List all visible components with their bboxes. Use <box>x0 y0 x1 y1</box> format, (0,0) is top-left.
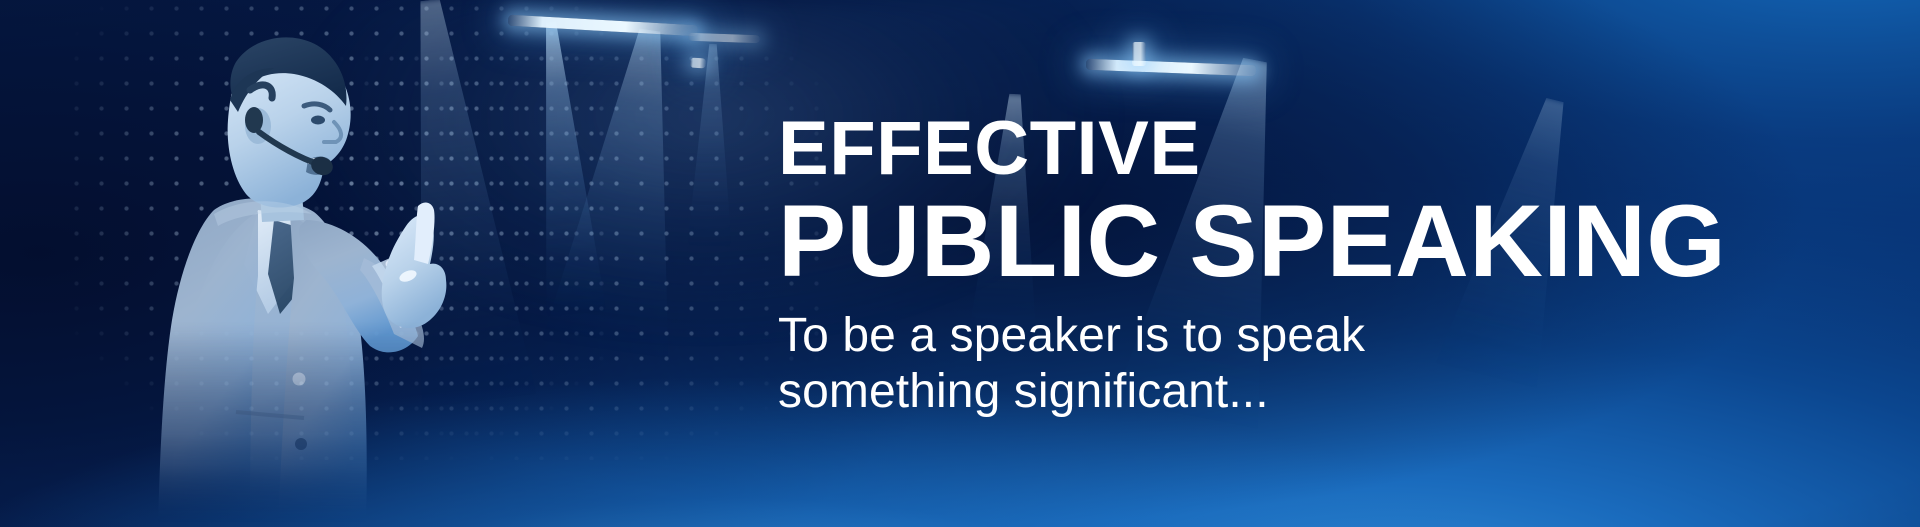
subtitle-line-2: something significant... <box>778 364 1778 420</box>
subtitle-line-1: To be a speaker is to speak <box>778 308 1778 364</box>
headline-line-1: EFFECTIVE <box>778 112 1778 186</box>
headline-line-2: PUBLIC SPEAKING <box>778 190 1778 292</box>
banner-text-block: EFFECTIVE PUBLIC SPEAKING To be a speake… <box>778 112 1778 420</box>
public-speaking-hero-banner: EFFECTIVE PUBLIC SPEAKING To be a speake… <box>0 0 1920 527</box>
